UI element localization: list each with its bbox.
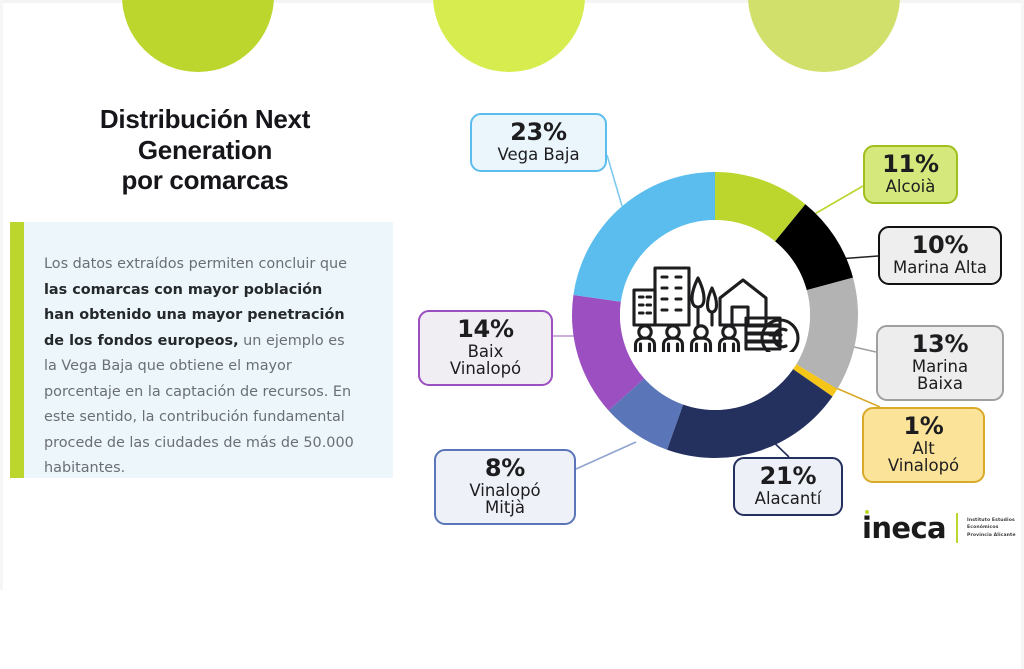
summary-panel-accent-bar [10, 222, 24, 478]
ineca-tagline: Instituto Estudios Económicos Provincia … [967, 517, 1016, 539]
callout-marina-alta[interactable]: 10%Marina Alta [878, 226, 1002, 285]
callout-name-baix-vinalop-: Baix Vinalopó [432, 343, 539, 377]
left-frame-edge [0, 0, 3, 590]
callout-percent-alacant-: 21% [747, 464, 829, 489]
callout-vinalop-mitj-[interactable]: 8%Vinalopó Mitjà [434, 449, 576, 525]
callout-marina-baixa[interactable]: 13%Marina Baixa [876, 325, 1004, 401]
ineca-tagline-line-3: Provincia Alicante [967, 532, 1016, 539]
summary-rest: un ejemplo es la Vega Baja que obtiene e… [44, 333, 354, 477]
summary-lead: Los datos extraídos permiten concluir qu… [44, 256, 347, 272]
infographic-canvas: Distribución Next Generation por comarca… [0, 0, 1024, 669]
donut-chart [572, 172, 858, 458]
callout-name-vega-baja: Vega Baja [484, 146, 593, 163]
deco-circle-2 [433, 0, 585, 72]
callout-percent-baix-vinalop-: 14% [432, 317, 539, 342]
ineca-logo: ineca Instituto Estudios Económicos Prov… [862, 508, 1016, 548]
callout-name-alcoi-: Alcoià [877, 178, 944, 195]
ineca-tagline-line-1: Instituto Estudios [967, 517, 1016, 524]
deco-circle-1 [122, 0, 274, 72]
ineca-wordmark-text: ineca [862, 511, 946, 545]
callout-percent-marina-alta: 10% [892, 233, 988, 258]
callout-percent-marina-baixa: 13% [890, 332, 990, 357]
city-people-euro-coins-icon [628, 260, 803, 352]
page-title: Distribución Next Generation por comarca… [55, 104, 355, 196]
ineca-logo-dot [865, 510, 869, 514]
callout-percent-vinalop-mitj-: 8% [448, 456, 562, 481]
callout-name-alt-vinalop-: Alt Vinalopó [876, 440, 971, 474]
logo-separator [956, 513, 958, 543]
page-title-line-2: Generation [55, 135, 355, 166]
callout-percent-alcoi-: 11% [877, 152, 944, 177]
summary-panel-text: Los datos extraídos permiten concluir qu… [44, 252, 354, 482]
callout-name-marina-alta: Marina Alta [892, 259, 988, 276]
callout-baix-vinalop-[interactable]: 14%Baix Vinalopó [418, 310, 553, 386]
ineca-wordmark: ineca [862, 514, 946, 543]
callout-percent-alt-vinalop-: 1% [876, 414, 971, 439]
callout-name-alacant-: Alacantí [747, 490, 829, 507]
callout-vega-baja[interactable]: 23%Vega Baja [470, 113, 607, 172]
callout-alt-vinalop-[interactable]: 1%Alt Vinalopó [862, 407, 985, 483]
ineca-tagline-line-2: Económicos [967, 524, 1016, 531]
callout-name-marina-baixa: Marina Baixa [890, 358, 990, 392]
callout-name-vinalop-mitj-: Vinalopó Mitjà [448, 482, 562, 516]
callout-alacant-[interactable]: 21%Alacantí [733, 457, 843, 516]
callout-percent-vega-baja: 23% [484, 120, 593, 145]
page-title-line-3: por comarcas [55, 165, 355, 196]
deco-circle-3 [748, 0, 900, 72]
callout-alcoi-[interactable]: 11%Alcoià [863, 145, 958, 204]
page-title-line-1: Distribución Next [55, 104, 355, 135]
